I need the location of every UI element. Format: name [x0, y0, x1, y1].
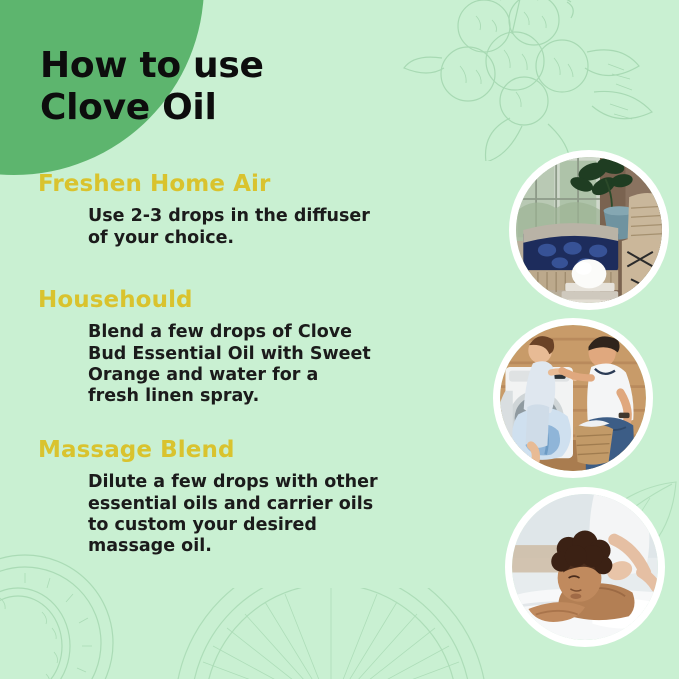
section-freshen-home-air: Freshen Home Air Use 2-3 drops in the di…: [38, 172, 458, 249]
section-massage-blend: Massage Blend Dilute a few drops with ot…: [38, 438, 458, 558]
citrus-slice-illustration: [165, 588, 495, 679]
section-body: Dilute a few drops with other essential …: [88, 472, 458, 557]
laundry-father-child-photo: [493, 318, 653, 478]
berries-branch-illustration: [372, 0, 672, 161]
section-household: Househould Blend a few drops of Clove Bu…: [38, 288, 458, 408]
page-title: How to use Clove Oil: [40, 45, 264, 130]
section-heading: Freshen Home Air: [38, 172, 458, 197]
section-heading: Househould: [38, 288, 458, 313]
page-title-line-2: Clove Oil: [40, 87, 264, 129]
infographic-poster: How to use Clove Oil Freshen Home Air Us…: [0, 0, 679, 679]
massage-woman-photo: [505, 487, 665, 647]
section-body: Blend a few drops of Clove Bud Essential…: [88, 322, 458, 407]
page-title-line-1: How to use: [40, 45, 264, 87]
section-body: Use 2-3 drops in the diffuser of your ch…: [88, 206, 458, 249]
kiwi-slice-illustration: [0, 548, 120, 679]
living-room-diffuser-photo: [509, 150, 669, 310]
section-heading: Massage Blend: [38, 438, 458, 463]
